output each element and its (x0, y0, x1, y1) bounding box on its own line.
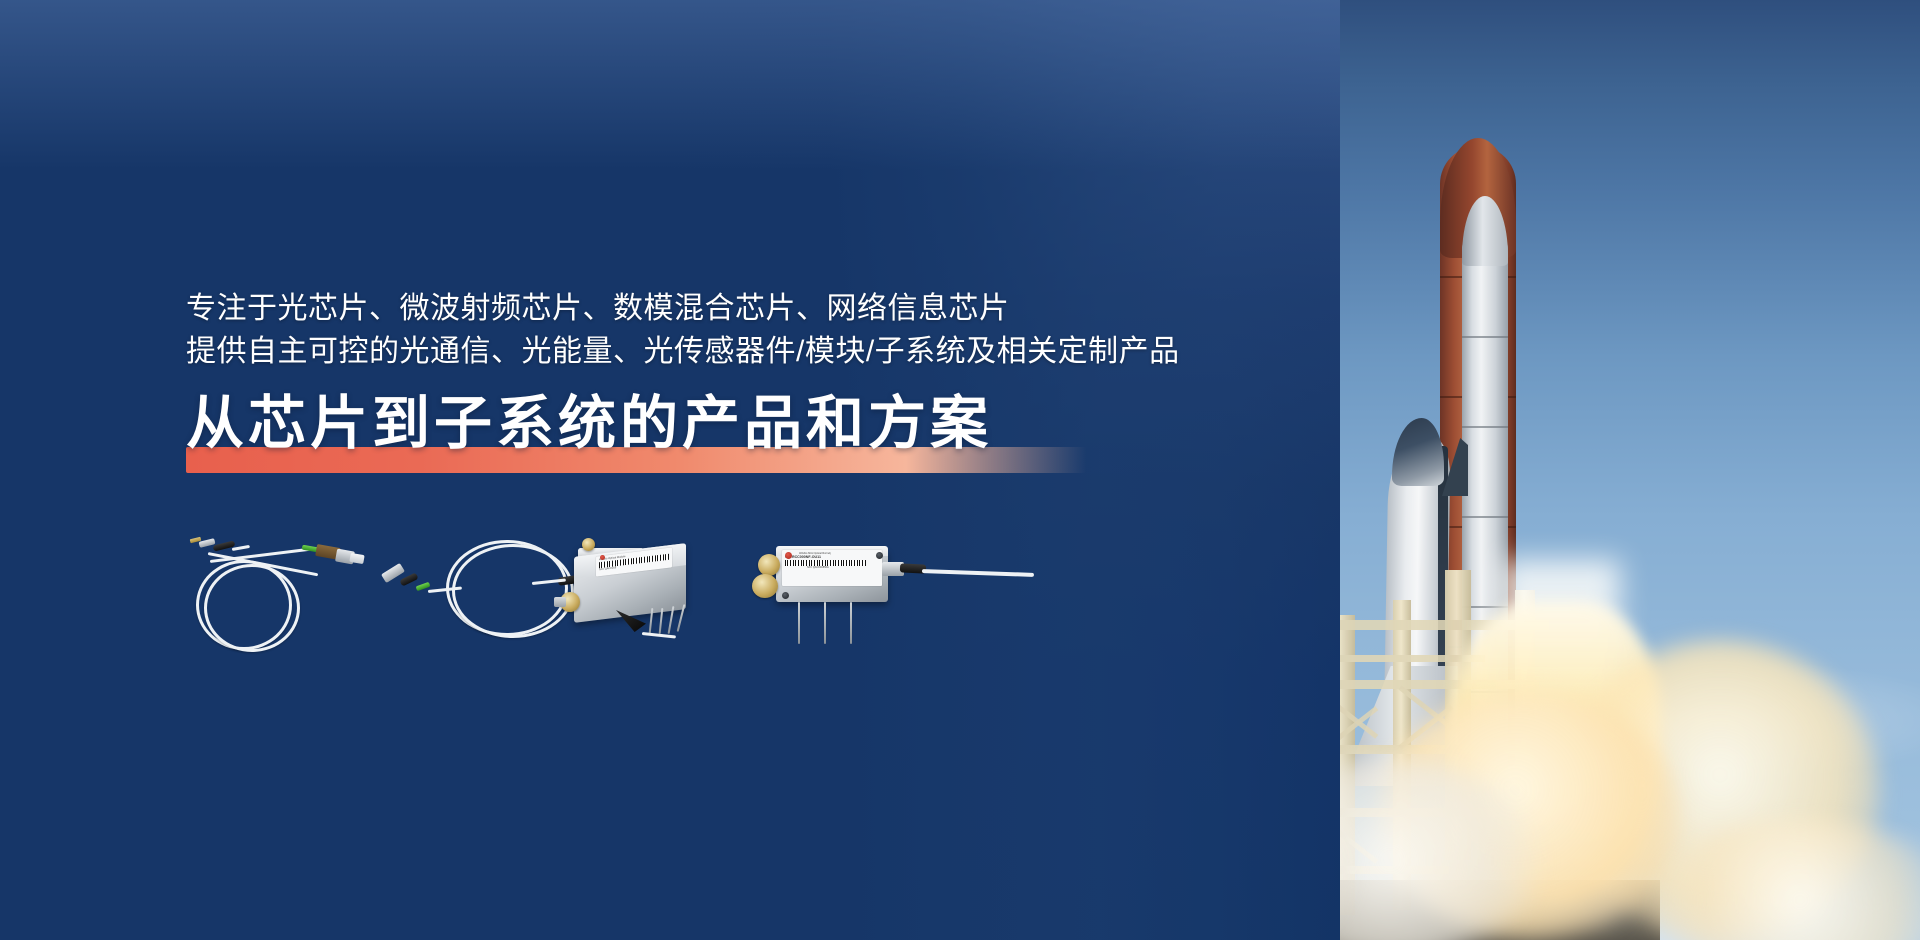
page-title: 从芯片到子系统的产品和方案 (186, 389, 1186, 453)
hero-copy: 专注于光芯片、微波射频芯片、数模混合芯片、网络信息芯片 提供自主可控的光通信、光… (186, 288, 1186, 485)
product-fiber-pigtail-assembly (186, 524, 406, 654)
receiver-label-serial: S/N: QAC001850A (807, 566, 879, 569)
hero-banner: 专注于光芯片、微波射频芯片、数模混合芯片、网络信息芯片 提供自主可控的光通信、光… (0, 0, 1920, 940)
product-showcase: 40Gb/s Optical Module S/N: QAC0018 40Gb/… (186, 524, 1046, 684)
orbiter-nose (1392, 418, 1444, 486)
product-optical-receiver-module: 40Gb/s Mini Optical Rx/mAj OM-RCC000NF-O… (732, 532, 1032, 672)
subtitle-line-1: 专注于光芯片、微波射频芯片、数模混合芯片、网络信息芯片 (186, 288, 1186, 331)
receiver-label-title: OM-RCC000NF-OU11 (785, 555, 879, 559)
product-rf-optical-module: 40Gb/s Optical Module S/N: QAC0018 (554, 544, 734, 664)
subtitle-line-2: 提供自主可控的光通信、光能量、光传感器件/模块/子系统及相关定制产品 (186, 331, 1186, 374)
headline-wrapper: 从芯片到子系统的产品和方案 (186, 389, 1186, 485)
